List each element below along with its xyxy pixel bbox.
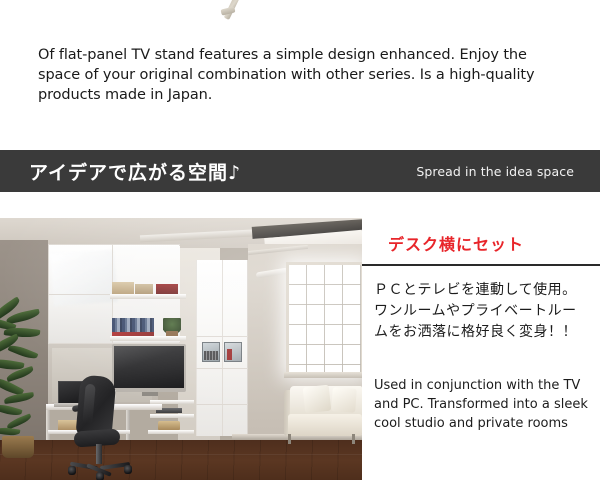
photo-red-box xyxy=(156,284,178,294)
photo-tall-cabinet-line xyxy=(196,368,248,369)
photo-media-basket xyxy=(158,421,180,430)
photo-glass-door-left xyxy=(202,342,220,362)
photo-sofa-leg-right xyxy=(352,434,355,444)
photo-chair-base xyxy=(70,460,132,472)
intro-paragraph: Of flat-panel TV stand features a simple… xyxy=(38,45,538,105)
photo-window-frame xyxy=(286,262,362,376)
photo-storage-box xyxy=(112,282,134,294)
info-panel: デスク横にセット ＰＣとテレビを連動して使用。ワンルームやプライベートルームをお… xyxy=(362,218,600,480)
panel-divider xyxy=(362,264,600,266)
photo-tall-cabinet-divider xyxy=(196,336,248,337)
photo-sofa-leg-left xyxy=(288,434,291,444)
photo-storage-box-2 xyxy=(135,284,153,294)
photo-plant-foliage xyxy=(0,302,44,442)
section-banner: アイデアで広がる空間♪ Spread in the idea space xyxy=(0,150,600,192)
photo-shelf-upper xyxy=(110,294,186,299)
photo-tall-cabinet-line-2 xyxy=(196,404,248,405)
photo-sofa-cushion-2 xyxy=(331,387,357,413)
photo-cabinet-gloss xyxy=(50,250,117,306)
banner-title-japanese: アイデアで広がる空間♪ xyxy=(29,158,241,185)
photo-floor xyxy=(0,440,362,480)
panel-body-japanese: ＰＣとテレビを連動して使用。ワンルームやプライベートルームをお洒落に格好良く変身… xyxy=(374,280,588,343)
photo-window-sill xyxy=(284,372,362,378)
photo-tall-cabinet-seam xyxy=(222,260,223,436)
room-photo xyxy=(0,218,362,480)
photo-sofa-seat xyxy=(288,414,362,436)
banner-subtitle-english: Spread in the idea space xyxy=(416,164,574,179)
panel-heading-japanese: デスク横にセット xyxy=(388,231,524,255)
photo-shelf-lower xyxy=(110,336,186,341)
photo-tv-stand xyxy=(142,392,158,396)
photo-floor-plank-line xyxy=(0,454,362,455)
photo-sofa-cushion-1 xyxy=(303,385,332,414)
photo-glass-door-right xyxy=(224,342,242,362)
photo-tv-screen xyxy=(114,346,184,388)
photo-plant-pot xyxy=(2,436,34,458)
top-image-fragment xyxy=(219,0,245,24)
panel-body-english: Used in conjunction with the TV and PC. … xyxy=(374,376,590,433)
photo-media-shelf-3 xyxy=(148,430,194,434)
photo-media-shelf-2 xyxy=(150,414,194,418)
